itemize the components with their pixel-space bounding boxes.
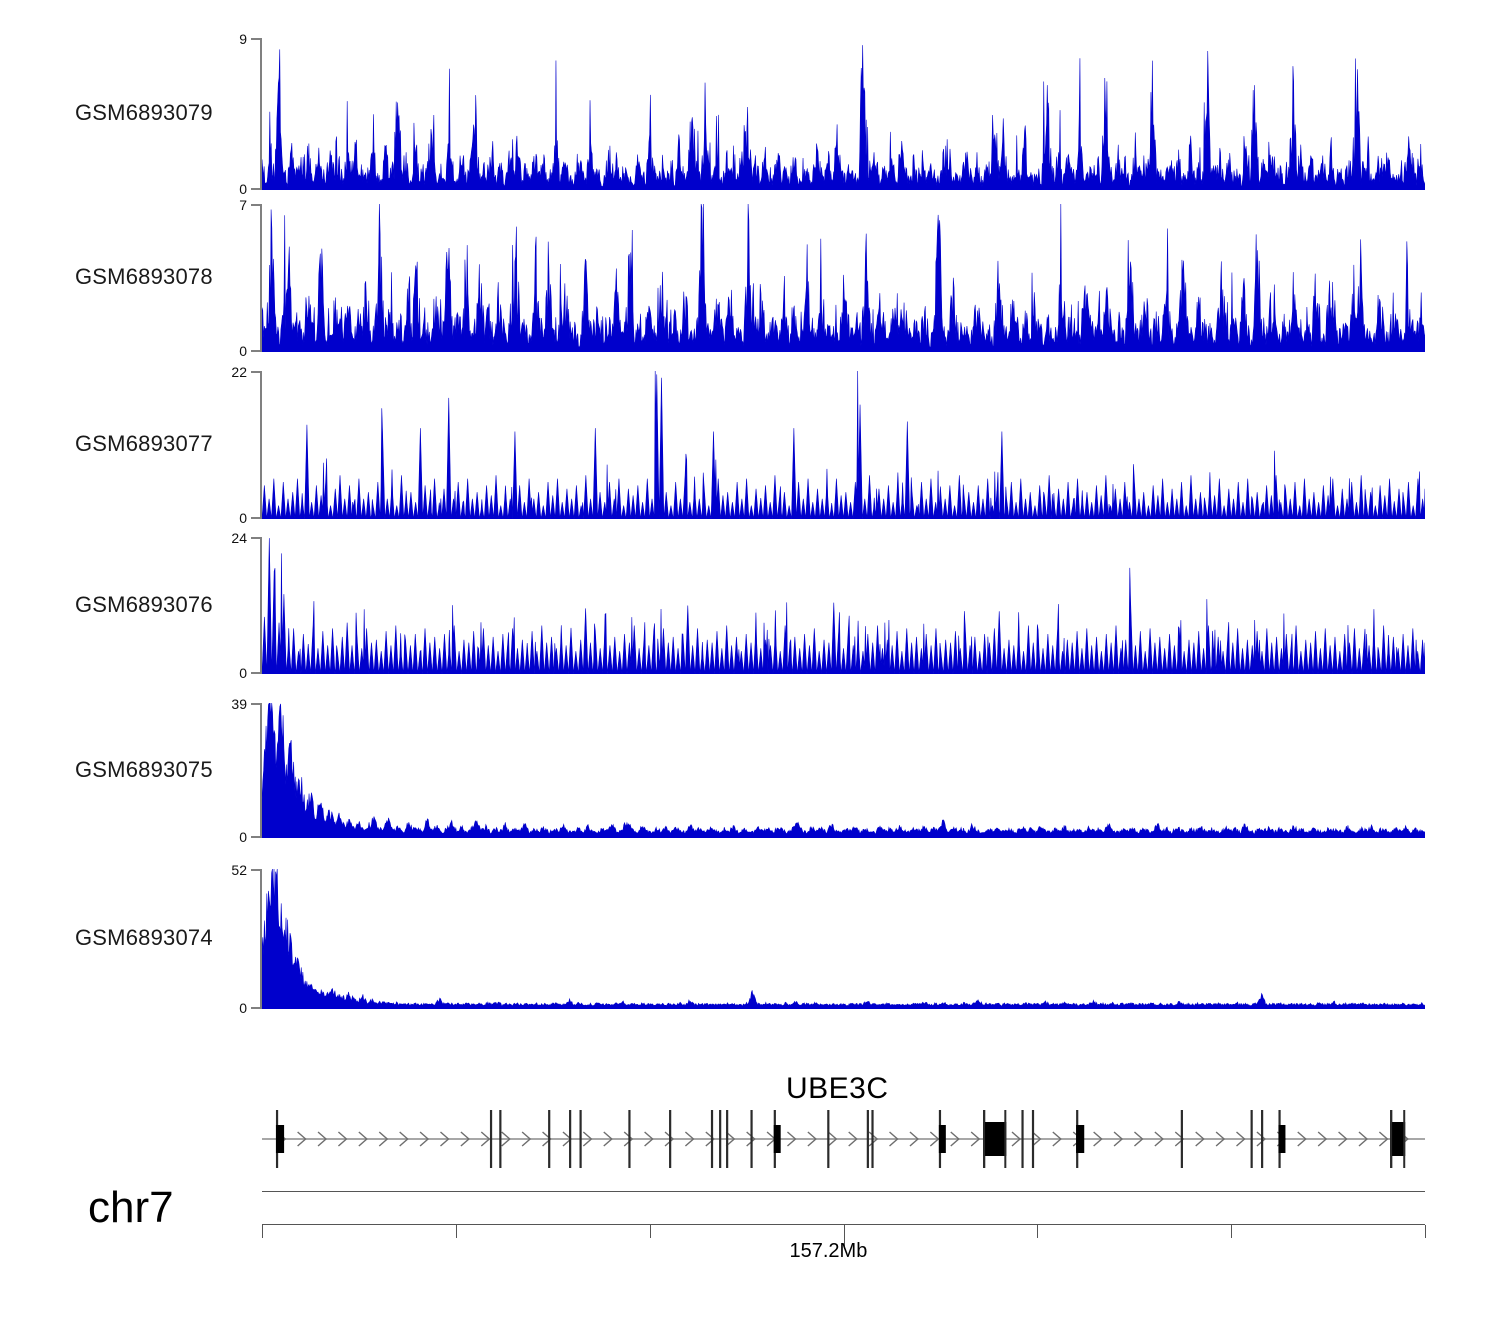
exon-block[interactable] — [939, 1125, 946, 1153]
exon-boundary — [711, 1110, 713, 1168]
y-axis-tick-max — [251, 869, 262, 871]
chromosome-label: chr7 — [88, 1183, 174, 1233]
y-axis-tick-max — [251, 537, 262, 539]
coverage-area-svg — [262, 38, 1425, 190]
exon-boundary — [827, 1110, 829, 1168]
exon-boundary — [1390, 1110, 1392, 1168]
genome-browser-view: GSM689307990GSM689307870GSM6893077220GSM… — [0, 0, 1500, 1320]
coverage-area — [262, 869, 1425, 1009]
axis-tick — [1231, 1225, 1232, 1238]
y-axis-min-label: 0 — [239, 830, 247, 844]
exon-boundary — [569, 1110, 571, 1168]
axis-tick — [1425, 1225, 1426, 1238]
coverage-area — [262, 371, 1425, 519]
exon-block[interactable] — [774, 1125, 781, 1153]
exon-boundary — [499, 1110, 501, 1168]
coverage-area — [262, 538, 1425, 674]
exon-block[interactable] — [1278, 1125, 1285, 1153]
coverage-plot-gsm6893077[interactable] — [262, 371, 1425, 519]
exon-block[interactable] — [983, 1122, 1006, 1156]
axis-position-label: 157.2Mb — [790, 1240, 868, 1263]
y-axis-max-label: 52 — [231, 863, 247, 877]
exon-boundary — [867, 1110, 869, 1168]
gene-name-label: UBE3C — [786, 1072, 889, 1106]
coverage-area-svg — [262, 371, 1425, 519]
y-axis-gsm6893078: 70 — [236, 204, 262, 352]
y-axis-max-label: 24 — [231, 531, 247, 545]
y-axis-gsm6893079: 90 — [236, 38, 262, 190]
exon-block[interactable] — [276, 1125, 284, 1153]
coverage-plot-gsm6893079[interactable] — [262, 38, 1425, 190]
y-axis-min-label: 0 — [239, 511, 247, 525]
y-axis-max-label: 9 — [239, 32, 247, 46]
track-label-gsm6893078: GSM6893078 — [75, 264, 255, 290]
genome-axis-track: chr7 157.2Mb — [0, 1185, 1500, 1295]
y-axis-tick-min — [251, 188, 262, 190]
exon-block[interactable] — [1390, 1122, 1405, 1156]
gene-annotation-track: UBE3C — [0, 1060, 1500, 1190]
exon-boundary — [750, 1110, 752, 1168]
exon-boundary — [1032, 1110, 1034, 1168]
track-label-gsm6893077: GSM6893077 — [75, 431, 255, 457]
y-axis-max-label: 39 — [231, 697, 247, 711]
y-axis-tick-max — [251, 703, 262, 705]
coverage-plot-gsm6893074[interactable] — [262, 869, 1425, 1009]
axis-tick — [1037, 1225, 1038, 1238]
axis-top-rule — [262, 1191, 1425, 1192]
coverage-plot-gsm6893075[interactable] — [262, 703, 1425, 838]
y-axis-tick-min — [251, 836, 262, 838]
gene-model-svg — [262, 1108, 1425, 1170]
exon-boundary — [490, 1110, 492, 1168]
y-axis-gsm6893076: 240 — [236, 537, 262, 674]
y-axis-tick-min — [251, 1007, 262, 1009]
track-label-gsm6893076: GSM6893076 — [75, 592, 255, 618]
coverage-area-svg — [262, 204, 1425, 352]
y-axis-tick-min — [251, 517, 262, 519]
exon-boundary — [719, 1110, 721, 1168]
exon-block[interactable] — [1076, 1125, 1084, 1153]
exon-boundary — [1403, 1110, 1405, 1168]
y-axis-tick-min — [251, 350, 262, 352]
coverage-area — [262, 45, 1425, 190]
y-axis-min-label: 0 — [239, 1001, 247, 1015]
exon-boundary — [983, 1110, 985, 1168]
coverage-plot-gsm6893078[interactable] — [262, 204, 1425, 352]
exon-boundary — [1261, 1110, 1263, 1168]
y-axis-max-label: 7 — [239, 198, 247, 212]
track-label-gsm6893079: GSM6893079 — [75, 100, 255, 126]
y-axis-tick-max — [251, 204, 262, 206]
exon-boundary — [1251, 1110, 1253, 1168]
axis-tick — [262, 1225, 263, 1238]
y-axis-gsm6893077: 220 — [236, 371, 262, 519]
coverage-area — [262, 703, 1425, 838]
exon-boundary — [1181, 1110, 1183, 1168]
y-axis-tick-max — [251, 38, 262, 40]
coverage-plot-gsm6893076[interactable] — [262, 537, 1425, 674]
exon-boundary — [579, 1110, 581, 1168]
exon-boundary — [1004, 1110, 1006, 1168]
exon-boundary — [871, 1110, 873, 1168]
exon-boundary — [669, 1110, 671, 1168]
gene-model-diagram[interactable] — [262, 1108, 1425, 1170]
y-axis-gsm6893074: 520 — [236, 869, 262, 1009]
exon-boundary — [628, 1110, 630, 1168]
y-axis-max-label: 22 — [231, 365, 247, 379]
axis-tick — [456, 1225, 457, 1238]
y-axis-min-label: 0 — [239, 666, 247, 680]
y-axis-gsm6893075: 390 — [236, 703, 262, 838]
exon-boundary — [548, 1110, 550, 1168]
coverage-area — [262, 204, 1425, 352]
exon-boundary — [726, 1110, 728, 1168]
y-axis-tick-max — [251, 371, 262, 373]
coverage-area-svg — [262, 703, 1425, 838]
axis-tick — [650, 1225, 651, 1238]
track-label-gsm6893075: GSM6893075 — [75, 757, 255, 783]
track-label-gsm6893074: GSM6893074 — [75, 925, 255, 951]
y-axis-min-label: 0 — [239, 182, 247, 196]
y-axis-min-label: 0 — [239, 344, 247, 358]
y-axis-tick-min — [251, 672, 262, 674]
exon-boundary — [1021, 1110, 1023, 1168]
coverage-area-svg — [262, 537, 1425, 674]
coverage-area-svg — [262, 869, 1425, 1009]
